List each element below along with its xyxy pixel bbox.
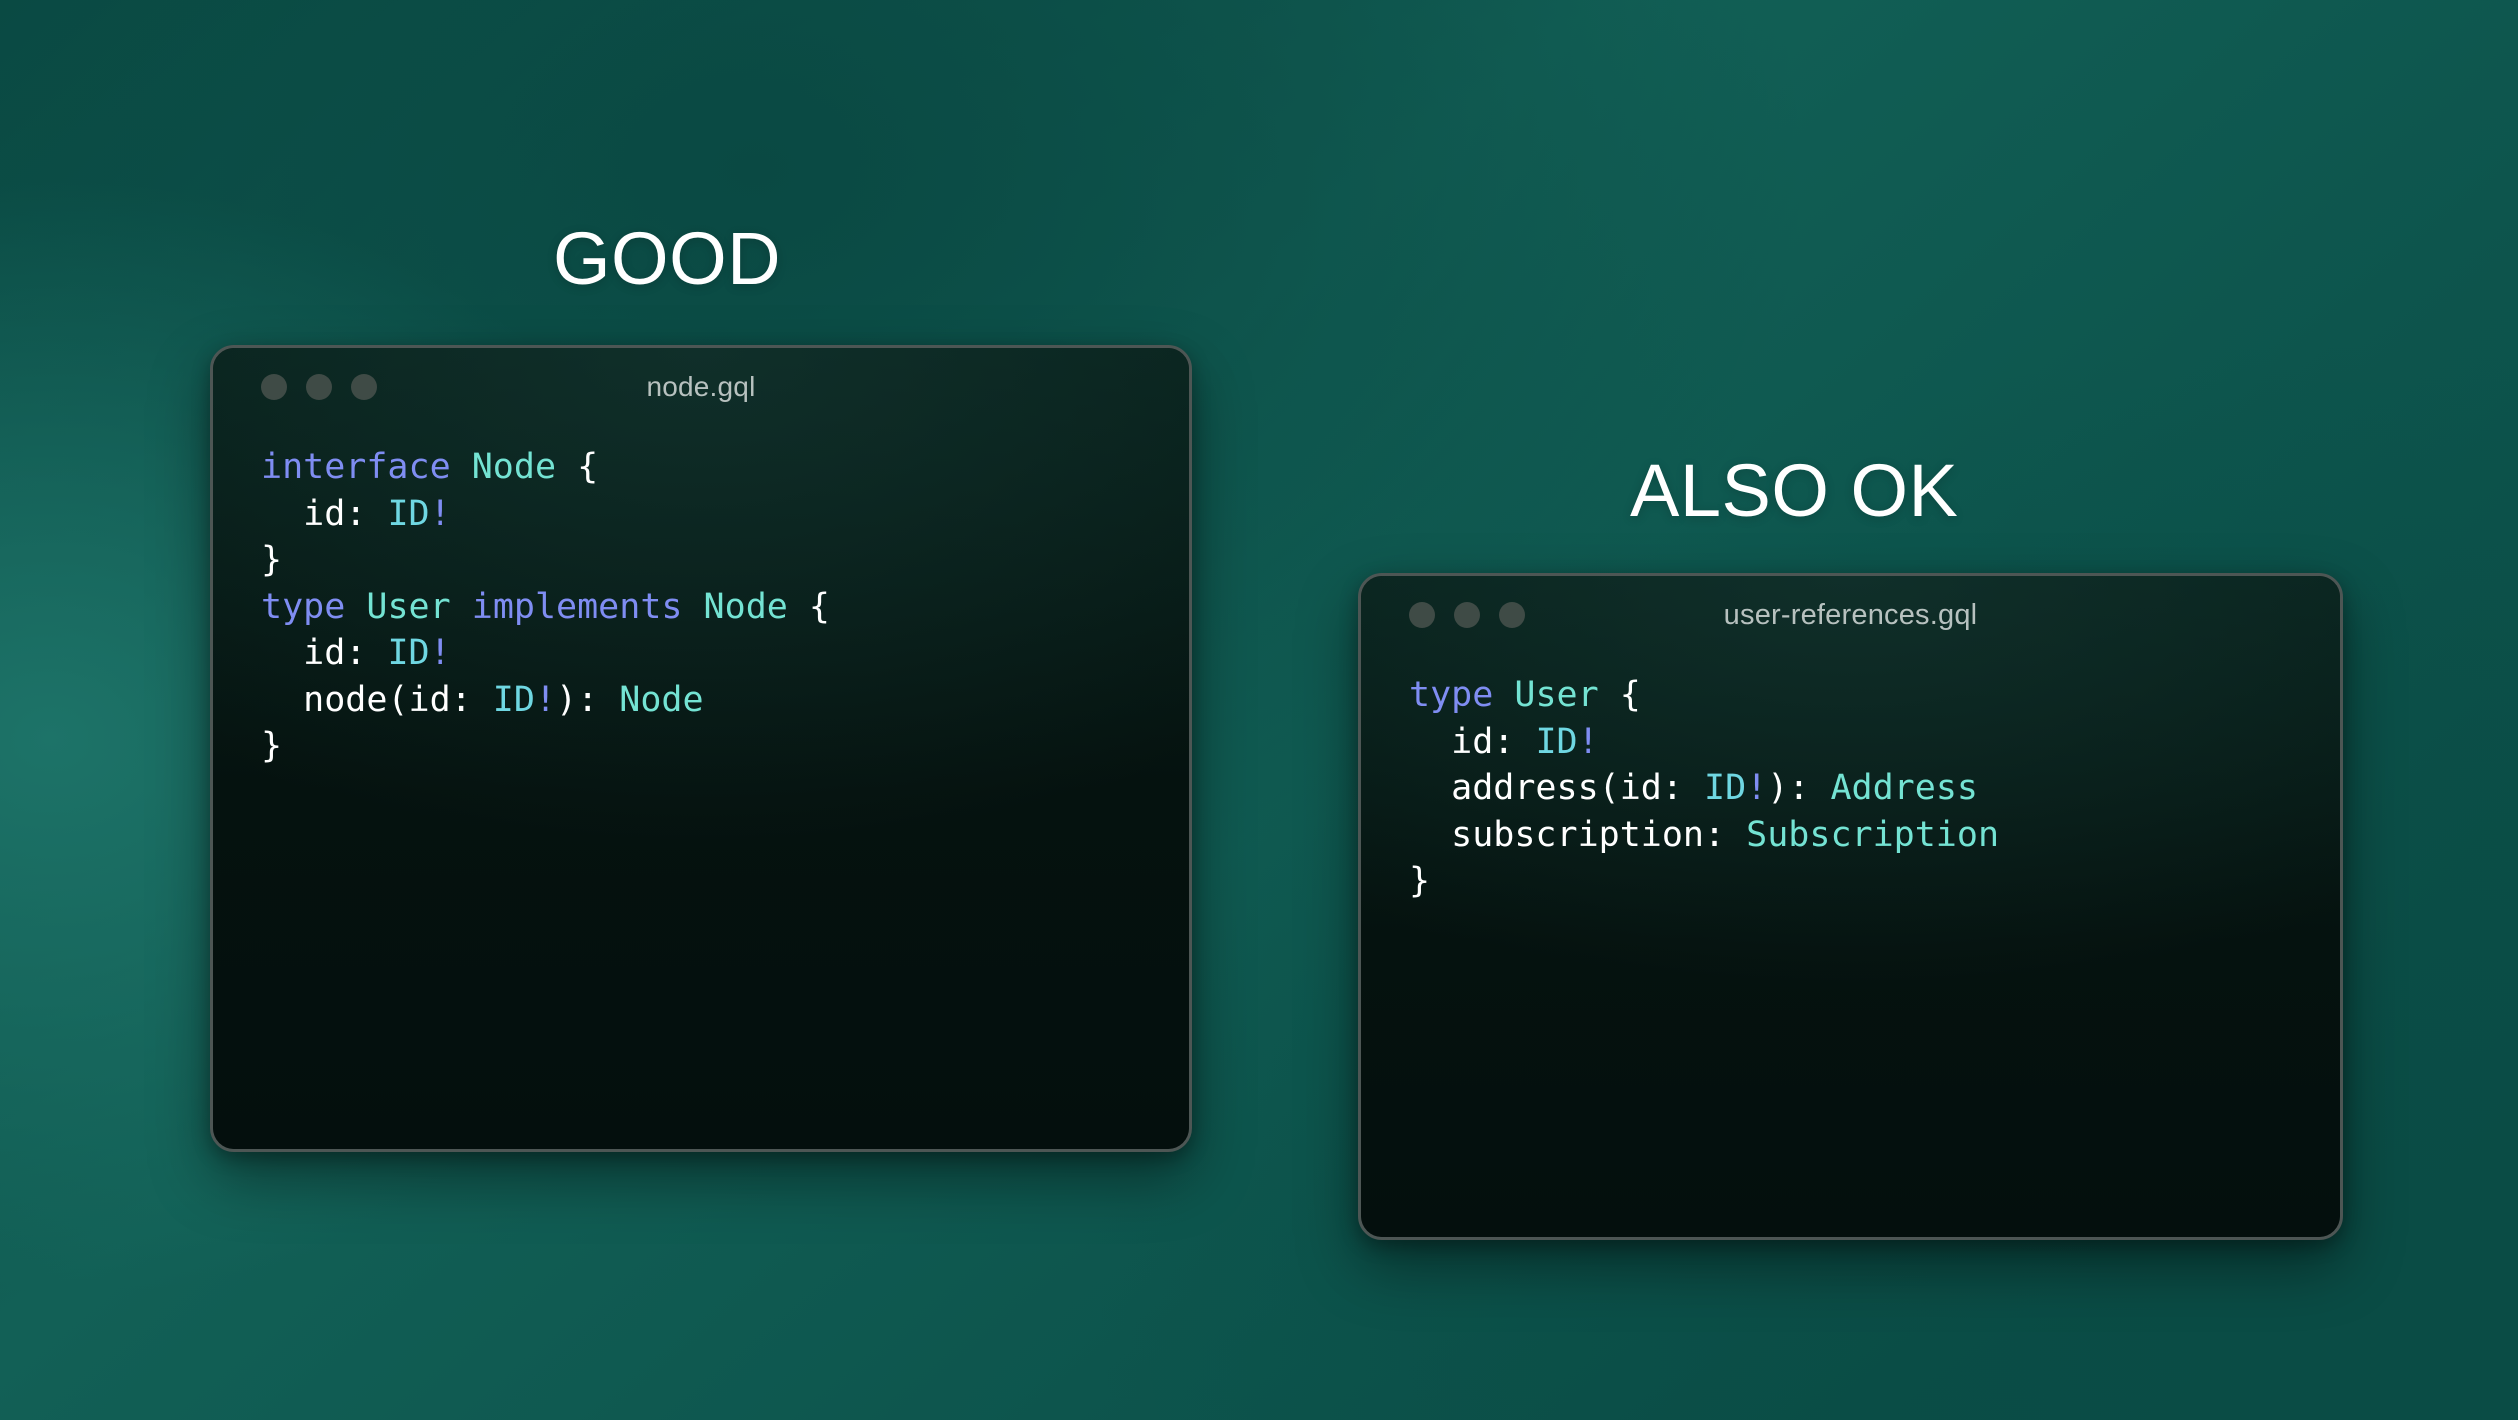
code-token: ! <box>1746 768 1767 808</box>
code-token: Address <box>1830 768 1978 808</box>
code-block-also-ok: type User { id: ID! address(id: ID!): Ad… <box>1361 654 2340 905</box>
code-token: { <box>1599 675 1641 715</box>
traffic-lights <box>261 374 377 400</box>
code-token: ): <box>556 680 619 720</box>
code-line: } <box>261 537 1189 584</box>
window-titlebar: user-references.gql <box>1361 576 2340 654</box>
code-token: node(id: <box>261 680 493 720</box>
code-token: ID <box>493 680 535 720</box>
code-line: interface Node { <box>261 444 1189 491</box>
code-token: ! <box>430 633 451 673</box>
code-token: address(id: <box>1409 768 1704 808</box>
code-token: } <box>261 726 282 766</box>
code-token: type <box>1409 675 1493 715</box>
code-token <box>451 587 472 627</box>
code-token: Node <box>619 680 703 720</box>
code-token: ID <box>1535 722 1577 762</box>
code-token: { <box>556 447 598 487</box>
code-window-good: node.gql interface Node { id: ID!}type U… <box>210 345 1192 1152</box>
traffic-light-minimize-icon[interactable] <box>1454 602 1480 628</box>
code-line: node(id: ID!): Node <box>261 677 1189 724</box>
code-token: subscription: <box>1409 815 1746 855</box>
code-window-also-ok: user-references.gql type User { id: ID! … <box>1358 573 2343 1240</box>
code-token: id: <box>1409 722 1535 762</box>
code-token: ! <box>430 494 451 534</box>
heading-good: GOOD <box>553 222 781 296</box>
code-token: User <box>366 587 450 627</box>
code-line: type User implements Node { <box>261 584 1189 631</box>
code-line: address(id: ID!): Address <box>1409 765 2340 812</box>
code-token <box>1493 675 1514 715</box>
code-token <box>451 447 472 487</box>
code-token: ID <box>387 633 429 673</box>
code-token: id: <box>261 633 387 673</box>
code-token: ! <box>1578 722 1599 762</box>
window-titlebar: node.gql <box>213 348 1189 426</box>
code-line: id: ID! <box>261 491 1189 538</box>
code-token <box>682 587 703 627</box>
code-token: ): <box>1767 768 1830 808</box>
code-line: } <box>1409 858 2340 905</box>
window-content: node.gql interface Node { id: ID!}type U… <box>213 348 1189 770</box>
code-token: Subscription <box>1746 815 1999 855</box>
code-token: { <box>788 587 830 627</box>
code-block-good: interface Node { id: ID!}type User imple… <box>213 426 1189 770</box>
code-token: } <box>1409 861 1430 901</box>
traffic-lights <box>1409 602 1525 628</box>
code-line: subscription: Subscription <box>1409 812 2340 859</box>
traffic-light-close-icon[interactable] <box>261 374 287 400</box>
code-token: Node <box>472 447 556 487</box>
traffic-light-close-icon[interactable] <box>1409 602 1435 628</box>
code-line: type User { <box>1409 672 2340 719</box>
heading-also-ok: ALSO OK <box>1630 454 1958 528</box>
traffic-light-maximize-icon[interactable] <box>1499 602 1525 628</box>
code-token <box>345 587 366 627</box>
code-token: type <box>261 587 345 627</box>
traffic-light-minimize-icon[interactable] <box>306 374 332 400</box>
traffic-light-maximize-icon[interactable] <box>351 374 377 400</box>
code-line: } <box>261 723 1189 770</box>
code-token: implements <box>472 587 683 627</box>
slide-canvas: GOOD node.gql interface Node { id: ID!}t… <box>0 0 2518 1420</box>
code-token: id: <box>261 494 387 534</box>
code-line: id: ID! <box>261 630 1189 677</box>
code-token: ! <box>535 680 556 720</box>
code-token: interface <box>261 447 451 487</box>
code-token: Node <box>704 587 788 627</box>
code-line: id: ID! <box>1409 719 2340 766</box>
code-token: User <box>1514 675 1598 715</box>
window-content: user-references.gql type User { id: ID! … <box>1361 576 2340 905</box>
code-token: } <box>261 540 282 580</box>
code-token: ID <box>387 494 429 534</box>
code-token: ID <box>1704 768 1746 808</box>
